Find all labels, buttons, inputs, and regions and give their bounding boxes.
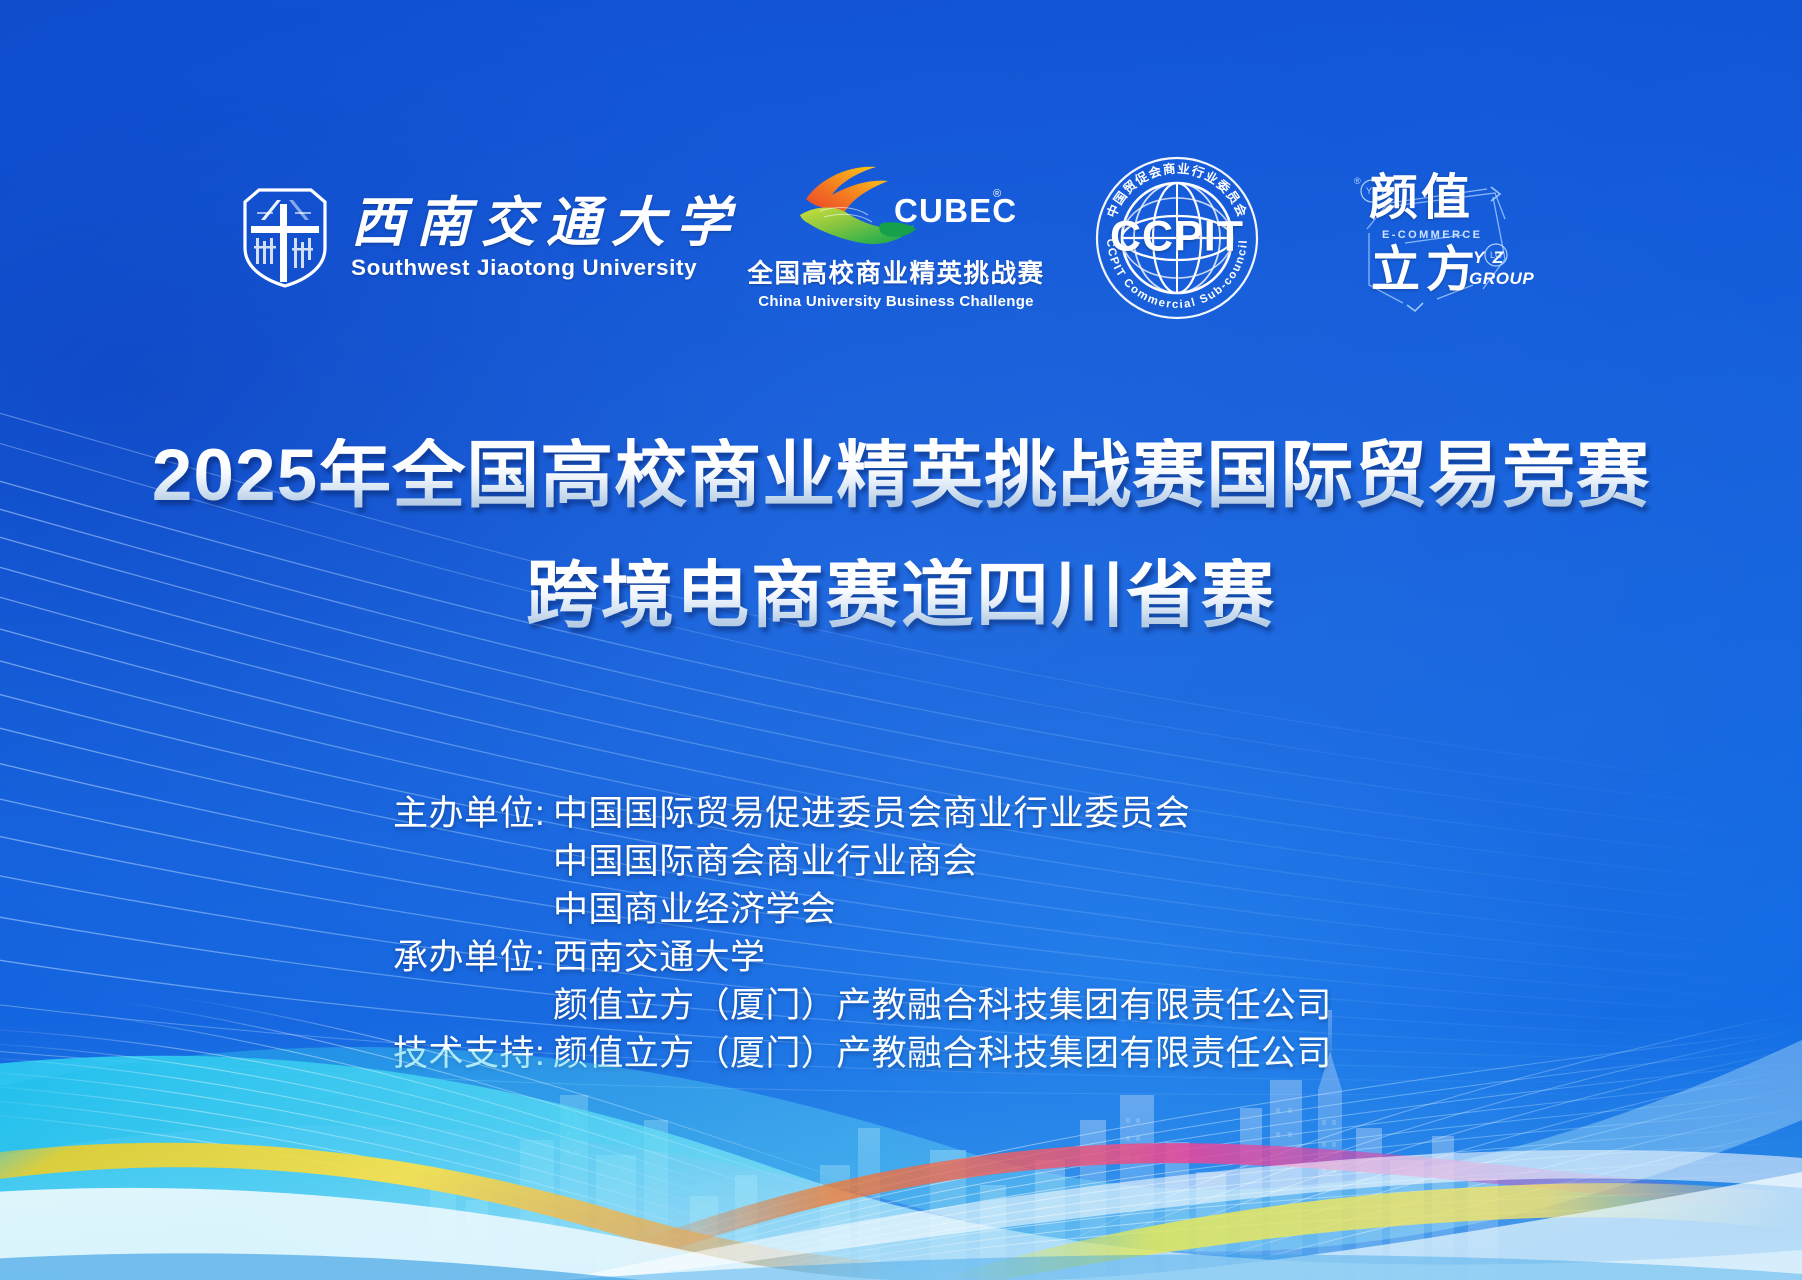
credit-value-host-1: 西南交通大学 — [553, 934, 765, 982]
credits-block: 主办单位: 中国国际贸易促进委员会商业行业委员会 中国国际商会商业行业商会 中国… — [393, 790, 1332, 1078]
logo-cubec: CUBEC ® 全国高校商业精英挑战赛 China University Bus… — [771, 164, 1021, 312]
yz-trademark: ® — [1354, 176, 1361, 186]
cubec-name-cn: 全国高校商业精英挑战赛 — [748, 253, 1045, 290]
yz-ecommerce-label: E-COMMERCE — [1382, 230, 1482, 241]
credit-row-host: 承办单位: 西南交通大学 — [393, 934, 1332, 982]
credit-value-organizer-2-row: 中国国际商会商业行业商会 — [393, 838, 1332, 886]
logo-ccpit: 中国贸促会商业行业委员会 CCPIT Commercial Sub-counci… — [1091, 152, 1263, 324]
yz-name-line2: 立方 — [1371, 245, 1481, 294]
credit-value-organizer-3-row: 中国商业经济学会 — [393, 886, 1332, 934]
credit-label-organizer: 主办单位: — [393, 790, 553, 838]
logo-yanzhi-lifang: YZ LG ® 颜值 E-COMMERCE 立方 Y Z GROUP — [1345, 163, 1523, 313]
credit-label-host: 承办单位: — [393, 934, 553, 982]
yz-group-line1: Y Z — [1473, 249, 1505, 266]
cubec-name-en: China University Business Challenge — [758, 293, 1034, 310]
credit-row-organizer: 主办单位: 中国国际贸易促进委员会商业行业委员会 — [393, 790, 1332, 838]
swjtu-name-en: Southwest Jiaotong University — [351, 257, 697, 280]
cubec-registered-mark: ® — [993, 189, 1001, 200]
credit-value-host-2-row: 颜值立方（厦门）产教融合科技集团有限责任公司 — [393, 982, 1332, 1030]
credit-value-organizer-1: 中国国际贸易促进委员会商业行业委员会 — [553, 790, 1190, 838]
credit-label-tech-support: 技术支持: — [393, 1030, 553, 1078]
yz-group-line2: GROUP — [1469, 270, 1534, 287]
credit-value-organizer-3: 中国商业经济学会 — [553, 890, 836, 929]
yz-name-line1: 颜值 — [1369, 173, 1473, 222]
sub-title: 跨境电商赛道四川省赛 — [0, 558, 1802, 634]
title-block: 2025年全国高校商业精英挑战赛国际贸易竞赛 跨境电商赛道四川省赛 — [0, 438, 1802, 634]
logo-southwest-jiaotong-university: 西南交通大学 Southwest Jiaotong University — [279, 178, 699, 298]
credit-row-tech-support: 技术支持: 颜值立方（厦门）产教融合科技集团有限责任公司 — [393, 1030, 1332, 1078]
sponsor-logo-row: 西南交通大学 Southwest Jiaotong University — [0, 150, 1802, 325]
swjtu-name-cn: 西南交通大学 — [351, 196, 741, 250]
swjtu-shield-icon — [237, 186, 333, 290]
main-title: 2025年全国高校商业精英挑战赛国际贸易竞赛 — [0, 438, 1802, 514]
credit-value-host-2: 颜值立方（厦门）产教融合科技集团有限责任公司 — [553, 986, 1332, 1025]
credit-value-organizer-2: 中国国际商会商业行业商会 — [553, 842, 978, 881]
competition-banner: 西南交通大学 Southwest Jiaotong University — [0, 0, 1802, 1280]
credit-value-tech-support-1: 颜值立方（厦门）产教融合科技集团有限责任公司 — [553, 1030, 1332, 1078]
